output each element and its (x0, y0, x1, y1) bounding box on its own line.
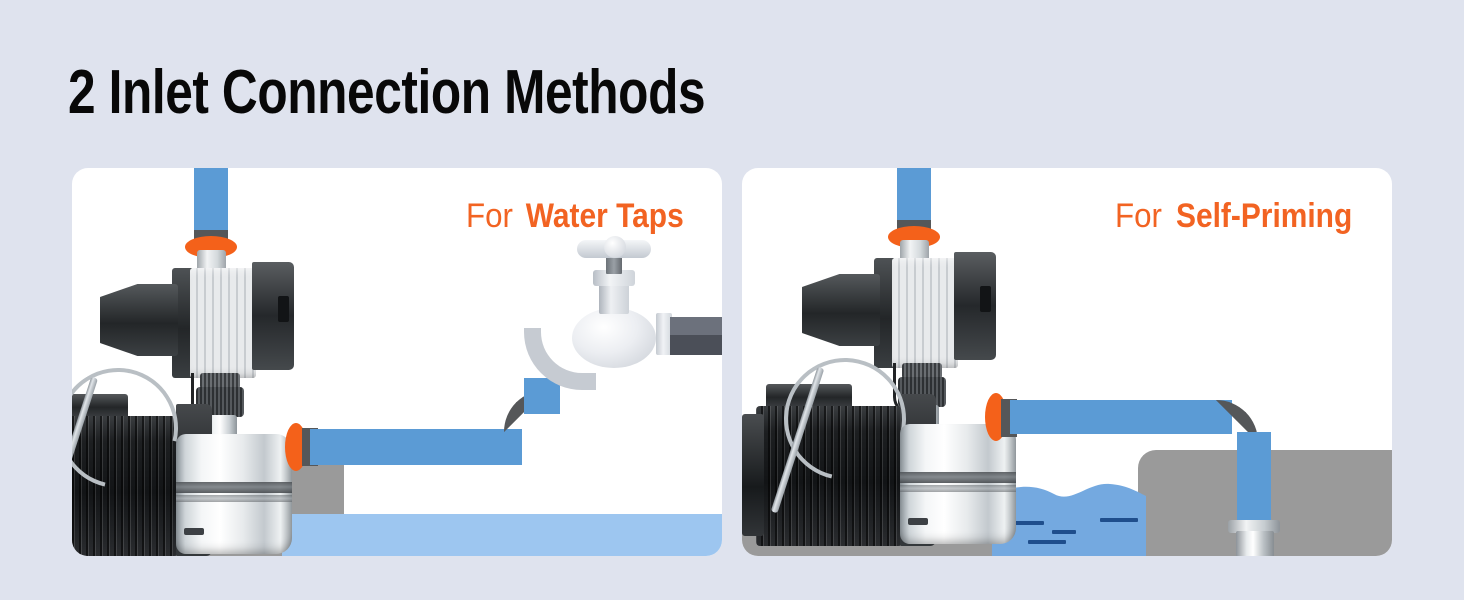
panel-self-priming: For Self-Priming (742, 168, 1392, 556)
pump-housing-band-left (176, 482, 292, 493)
caption-main: Water Taps (525, 198, 683, 234)
pump-housing-right (900, 424, 1016, 544)
panel-caption-water-taps: For Water Taps (464, 198, 694, 234)
panel-caption-self-priming: For Self-Priming (1113, 198, 1364, 234)
tap-handle-hub-left (604, 236, 626, 258)
water-line-4 (1100, 518, 1138, 522)
pump-housing-band2-right (900, 485, 1016, 492)
caption-prefix: For (466, 198, 513, 234)
suction-hose-right (1010, 400, 1232, 434)
page-title: 2 Inlet Connection Methods (68, 62, 705, 124)
tap-body-left (572, 308, 656, 368)
water-line-2 (1028, 540, 1066, 544)
pump-housing-left (176, 434, 292, 554)
controller-body-left (190, 268, 256, 378)
caption-prefix: For (1115, 198, 1162, 234)
tap-wall-pipe-lower-left (670, 335, 722, 355)
water-band-left (282, 514, 722, 556)
controller-button-right[interactable] (980, 286, 991, 312)
motor-end-cap-right (742, 414, 764, 536)
tap-wall-pipe-upper-left (670, 317, 722, 335)
outlet-pipe-vertical-left (194, 168, 228, 234)
pump-housing-band2-left (176, 495, 292, 502)
suction-hose-left (310, 429, 522, 465)
controller-funnel-left (100, 284, 178, 356)
controller-funnel-right (802, 274, 880, 346)
foot-valve-strainer (1236, 531, 1274, 556)
caption-main: Self-Priming (1176, 198, 1352, 234)
controller-button-left[interactable] (278, 296, 289, 322)
outlet-pipe-vertical-right (897, 168, 931, 224)
panel-water-taps: For Water Taps (72, 168, 722, 556)
suction-riser-right (1237, 432, 1271, 528)
controller-body-right (892, 258, 958, 368)
pump-housing-bolt-right (908, 518, 928, 525)
water-line-3 (1052, 530, 1076, 534)
pump-housing-bolt-left (184, 528, 204, 535)
pump-housing-band-right (900, 472, 1016, 483)
